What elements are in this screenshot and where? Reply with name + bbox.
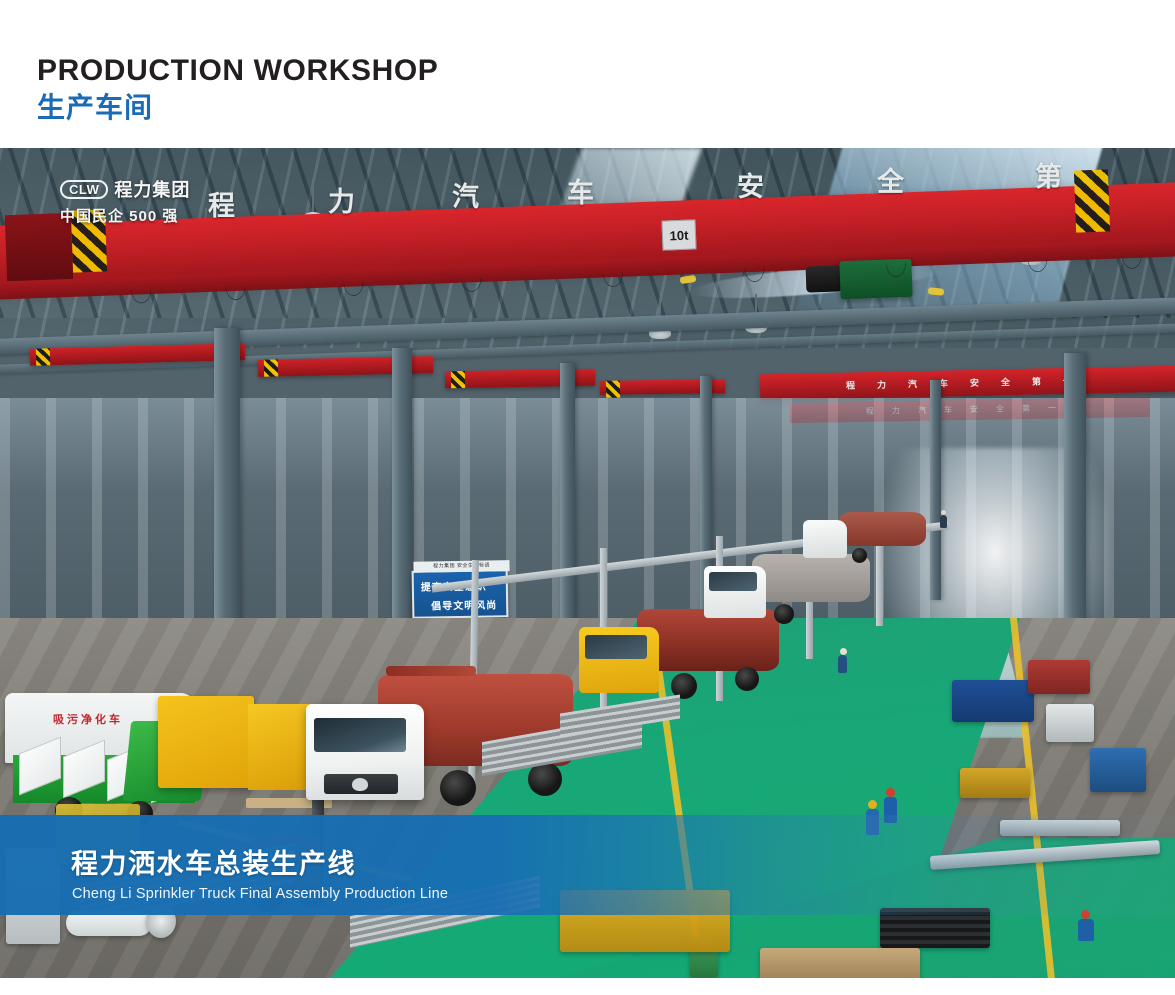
crane-load-rating-plate: 10t xyxy=(661,219,696,250)
yellow-truck-windshield xyxy=(585,635,647,659)
truck3-wheel xyxy=(852,548,867,563)
crane-char-6: 第 xyxy=(1035,155,1062,194)
yellow-truck-wheel-rear xyxy=(735,667,759,691)
steel-column-1 xyxy=(214,328,240,658)
machine-red-1 xyxy=(1028,660,1090,694)
tank-catwalk xyxy=(386,666,476,676)
watermark-row-primary: CLW 程力集团 xyxy=(60,176,260,202)
sanitation-truck-label: 吸污净化车 xyxy=(53,711,123,727)
caption-title-chinese: 程力洒水车总装生产线 xyxy=(71,842,356,881)
worker-4-head xyxy=(840,648,847,655)
truck2-wheel xyxy=(774,604,794,624)
crane-char-4: 安 xyxy=(737,165,764,204)
crane-char-5: 全 xyxy=(877,160,904,199)
yellow-truck-body-1 xyxy=(158,696,254,788)
brand-watermark: CLW 程力集团 中国民企 500 强 xyxy=(60,176,260,226)
steel-column-2 xyxy=(392,348,412,648)
machine-blue-1 xyxy=(952,680,1034,722)
watermark-tagline: 中国民企 500 强 xyxy=(60,205,260,226)
workshop-photo: 程 力 汽 车 安 全 第 10t 程力汽车安全第一 程力汽车安全第一 xyxy=(0,148,1175,978)
page-header: PRODUCTION WORKSHOP 生产车间 xyxy=(0,0,1175,148)
truck2-windshield xyxy=(709,572,757,591)
machine-cabinet-1 xyxy=(1046,704,1094,742)
worker-5-body xyxy=(940,515,947,528)
machine-blue-2 xyxy=(1090,748,1146,792)
crane-char-3: 车 xyxy=(567,171,594,210)
worker-3-body xyxy=(1078,919,1094,941)
safety-sign-line2: 倡导文明风尚 xyxy=(431,596,497,612)
worker-4-body xyxy=(838,655,847,673)
worker-2-helmet xyxy=(868,800,877,809)
distant-crane-banner-upper: 程力汽车安全第一 xyxy=(760,366,1175,401)
page-footer xyxy=(0,978,1175,995)
page-title-chinese: 生产车间 xyxy=(37,94,153,122)
steel-column-6 xyxy=(930,380,941,600)
truck-windshield xyxy=(314,718,406,752)
caption-title-english: Cheng Li Sprinkler Truck Final Assembly … xyxy=(72,886,448,902)
clw-logo-icon: CLW xyxy=(60,180,108,199)
truck-wheel-front xyxy=(440,770,476,806)
watermark-brand-name: 程力集团 xyxy=(114,176,190,202)
truck-brand-emblem xyxy=(352,778,368,791)
crane-char-1: 力 xyxy=(328,180,355,219)
worker-1-helmet xyxy=(886,788,895,797)
wooden-pallet xyxy=(760,948,920,978)
production-workshop-page: PRODUCTION WORKSHOP 生产车间 程 力 xyxy=(0,0,1175,995)
safety-sign-header: 程力集团 安全生产标语 xyxy=(413,560,509,573)
truck3-tank xyxy=(838,512,926,546)
page-title-english: PRODUCTION WORKSHOP xyxy=(37,56,438,86)
truck3-cab xyxy=(803,520,847,558)
crane-char-2: 汽 xyxy=(452,175,479,214)
sprinkler-truck-white-3 xyxy=(800,508,930,588)
machine-yellow-frame xyxy=(960,768,1030,798)
steel-column-3 xyxy=(560,363,575,633)
